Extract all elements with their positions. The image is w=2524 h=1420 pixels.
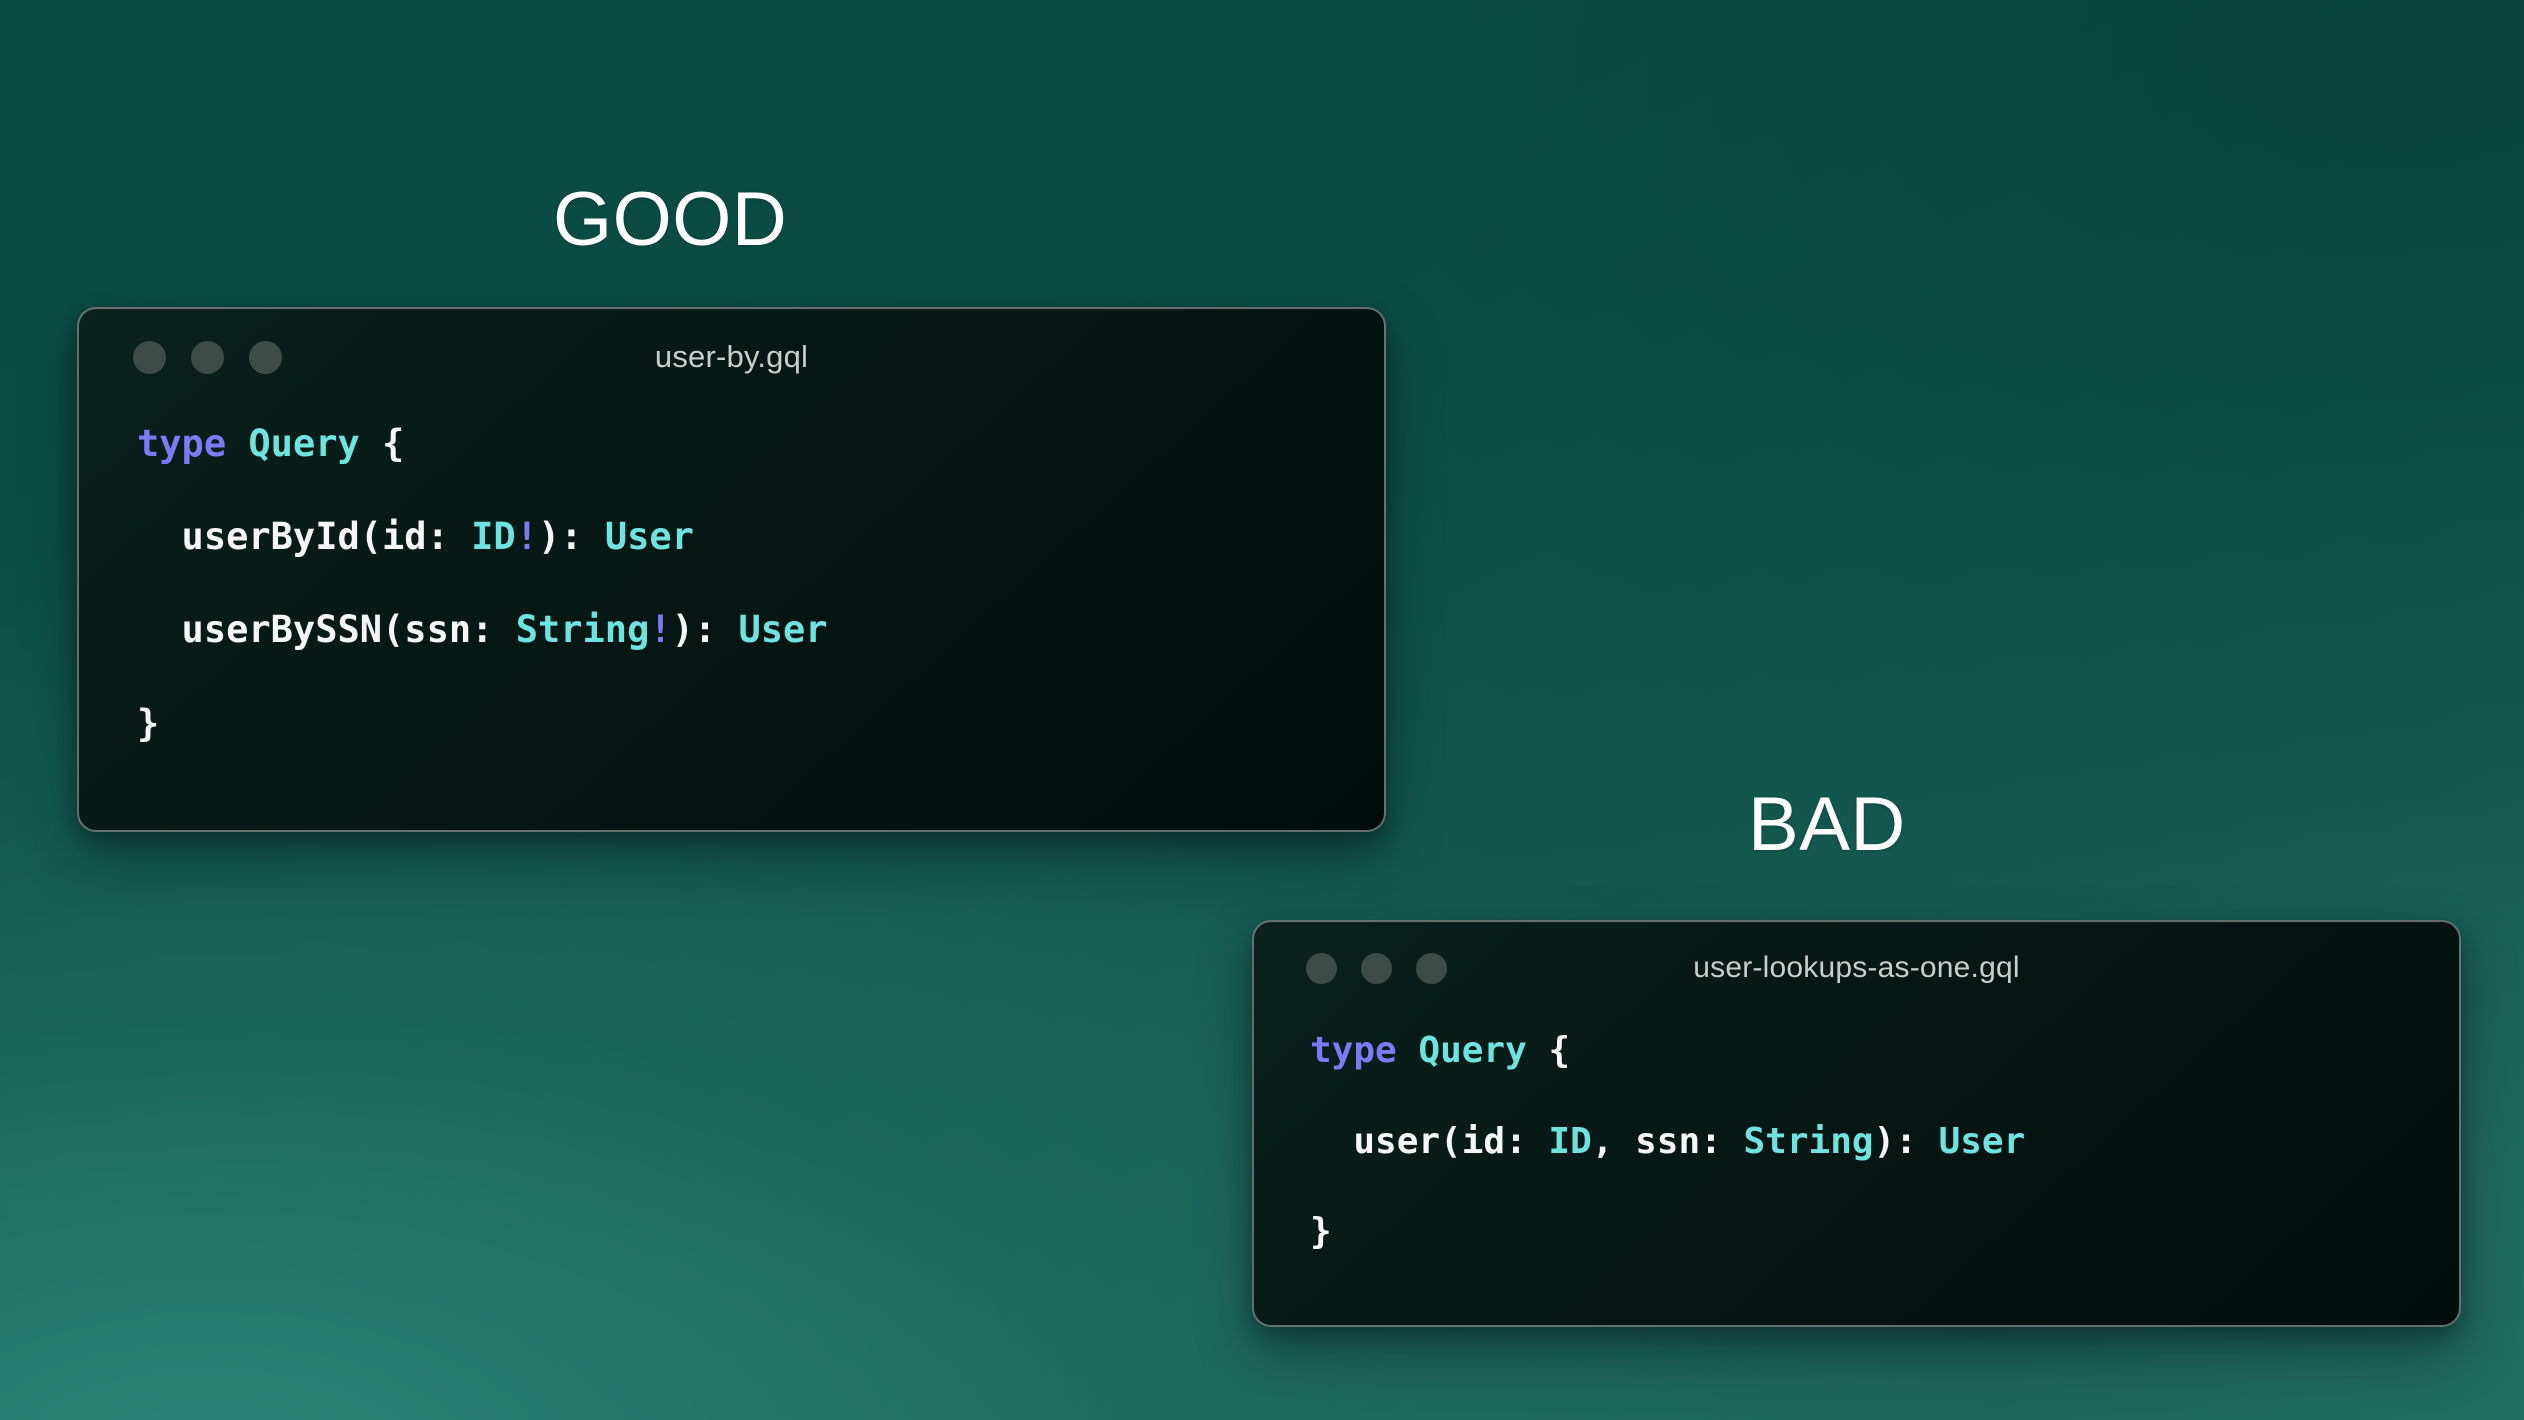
traffic-lights-bad [1306,953,1447,984]
section-label-bad: BAD [1748,787,1906,863]
section-label-good: GOOD [553,182,787,258]
code-line: type Query { [137,421,1384,468]
code-token-type-name: User [605,515,694,558]
code-token-non-null-bang: ! [649,608,671,651]
slide-canvas: GOOD user-by.gql type Query { userById(i… [0,0,2524,1420]
code-window-good: user-by.gql type Query { userById(id: ID… [77,307,1386,832]
code-line: } [137,701,1384,748]
code-token-punctuation: ): [1874,1121,1939,1162]
code-token-type-name: Query [1418,1030,1526,1071]
code-token-type-name: Query [248,422,359,465]
code-window-bad: user-lookups-as-one.gql type Query { use… [1252,920,2461,1327]
close-dot-icon[interactable] [1306,953,1337,984]
code-line: } [1310,1209,2459,1254]
close-dot-icon[interactable] [133,341,166,374]
code-block-good: type Query { userById(id: ID!): User use… [79,405,1384,747]
code-token-type-name: String [516,608,650,651]
code-token-keyword: type [137,422,226,465]
code-token-keyword: type [1310,1030,1397,1071]
code-token-punctuation: , ssn: [1592,1121,1744,1162]
code-line: user(id: ID, ssn: String): User [1310,1119,2459,1164]
code-line: userById(id: ID!): User [137,514,1384,561]
code-token-type-name: ID [1548,1121,1591,1162]
code-token-punctuation [1397,1030,1419,1071]
code-token-non-null-bang: ! [516,515,538,558]
code-token-punctuation: user(id: [1310,1121,1548,1162]
code-token-type-name: User [738,608,827,651]
code-token-punctuation [226,422,248,465]
code-block-bad: type Query { user(id: ID, ssn: String): … [1254,1014,2459,1255]
window-titlebar-good: user-by.gql [79,309,1384,405]
code-token-punctuation: } [1310,1211,1332,1252]
minimize-dot-icon[interactable] [191,341,224,374]
code-token-punctuation: { [1527,1030,1570,1071]
minimize-dot-icon[interactable] [1361,953,1392,984]
code-token-type-name: User [1939,1121,2026,1162]
window-titlebar-bad: user-lookups-as-one.gql [1254,922,2459,1014]
code-line: userBySSN(ssn: String!): User [137,607,1384,654]
code-token-punctuation: } [137,702,159,745]
code-token-punctuation: userBySSN(ssn: [137,608,516,651]
code-token-punctuation: userById(id: [137,515,471,558]
maximize-dot-icon[interactable] [249,341,282,374]
code-token-type-name: ID [471,515,516,558]
traffic-lights-good [133,341,282,374]
code-token-punctuation: ): [538,515,605,558]
code-line: type Query { [1310,1028,2459,1073]
code-token-punctuation: { [360,422,405,465]
code-token-punctuation: ): [672,608,739,651]
code-token-type-name: String [1744,1121,1874,1162]
maximize-dot-icon[interactable] [1416,953,1447,984]
